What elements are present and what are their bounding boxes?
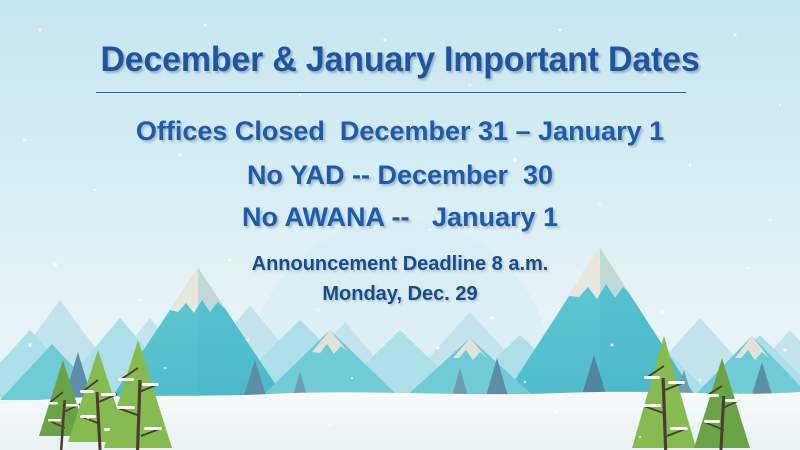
title-underline-rule [96,92,686,93]
page-title: December & January Important Dates [12,40,788,80]
date-line-offices-closed: Offices Closed December 31 – January 1 [0,116,800,147]
announcement-slide: December & January Important Dates Offic… [0,0,800,450]
date-line-no-yad: No YAD -- December 30 [0,160,800,191]
date-line-no-awana: No AWANA -- January 1 [0,202,800,233]
announcement-deadline-date: Monday, Dec. 29 [0,283,800,306]
announcement-deadline-line: Announcement Deadline 8 a.m. [0,253,800,276]
slide-text-content: December & January Important Dates Offic… [0,0,800,450]
